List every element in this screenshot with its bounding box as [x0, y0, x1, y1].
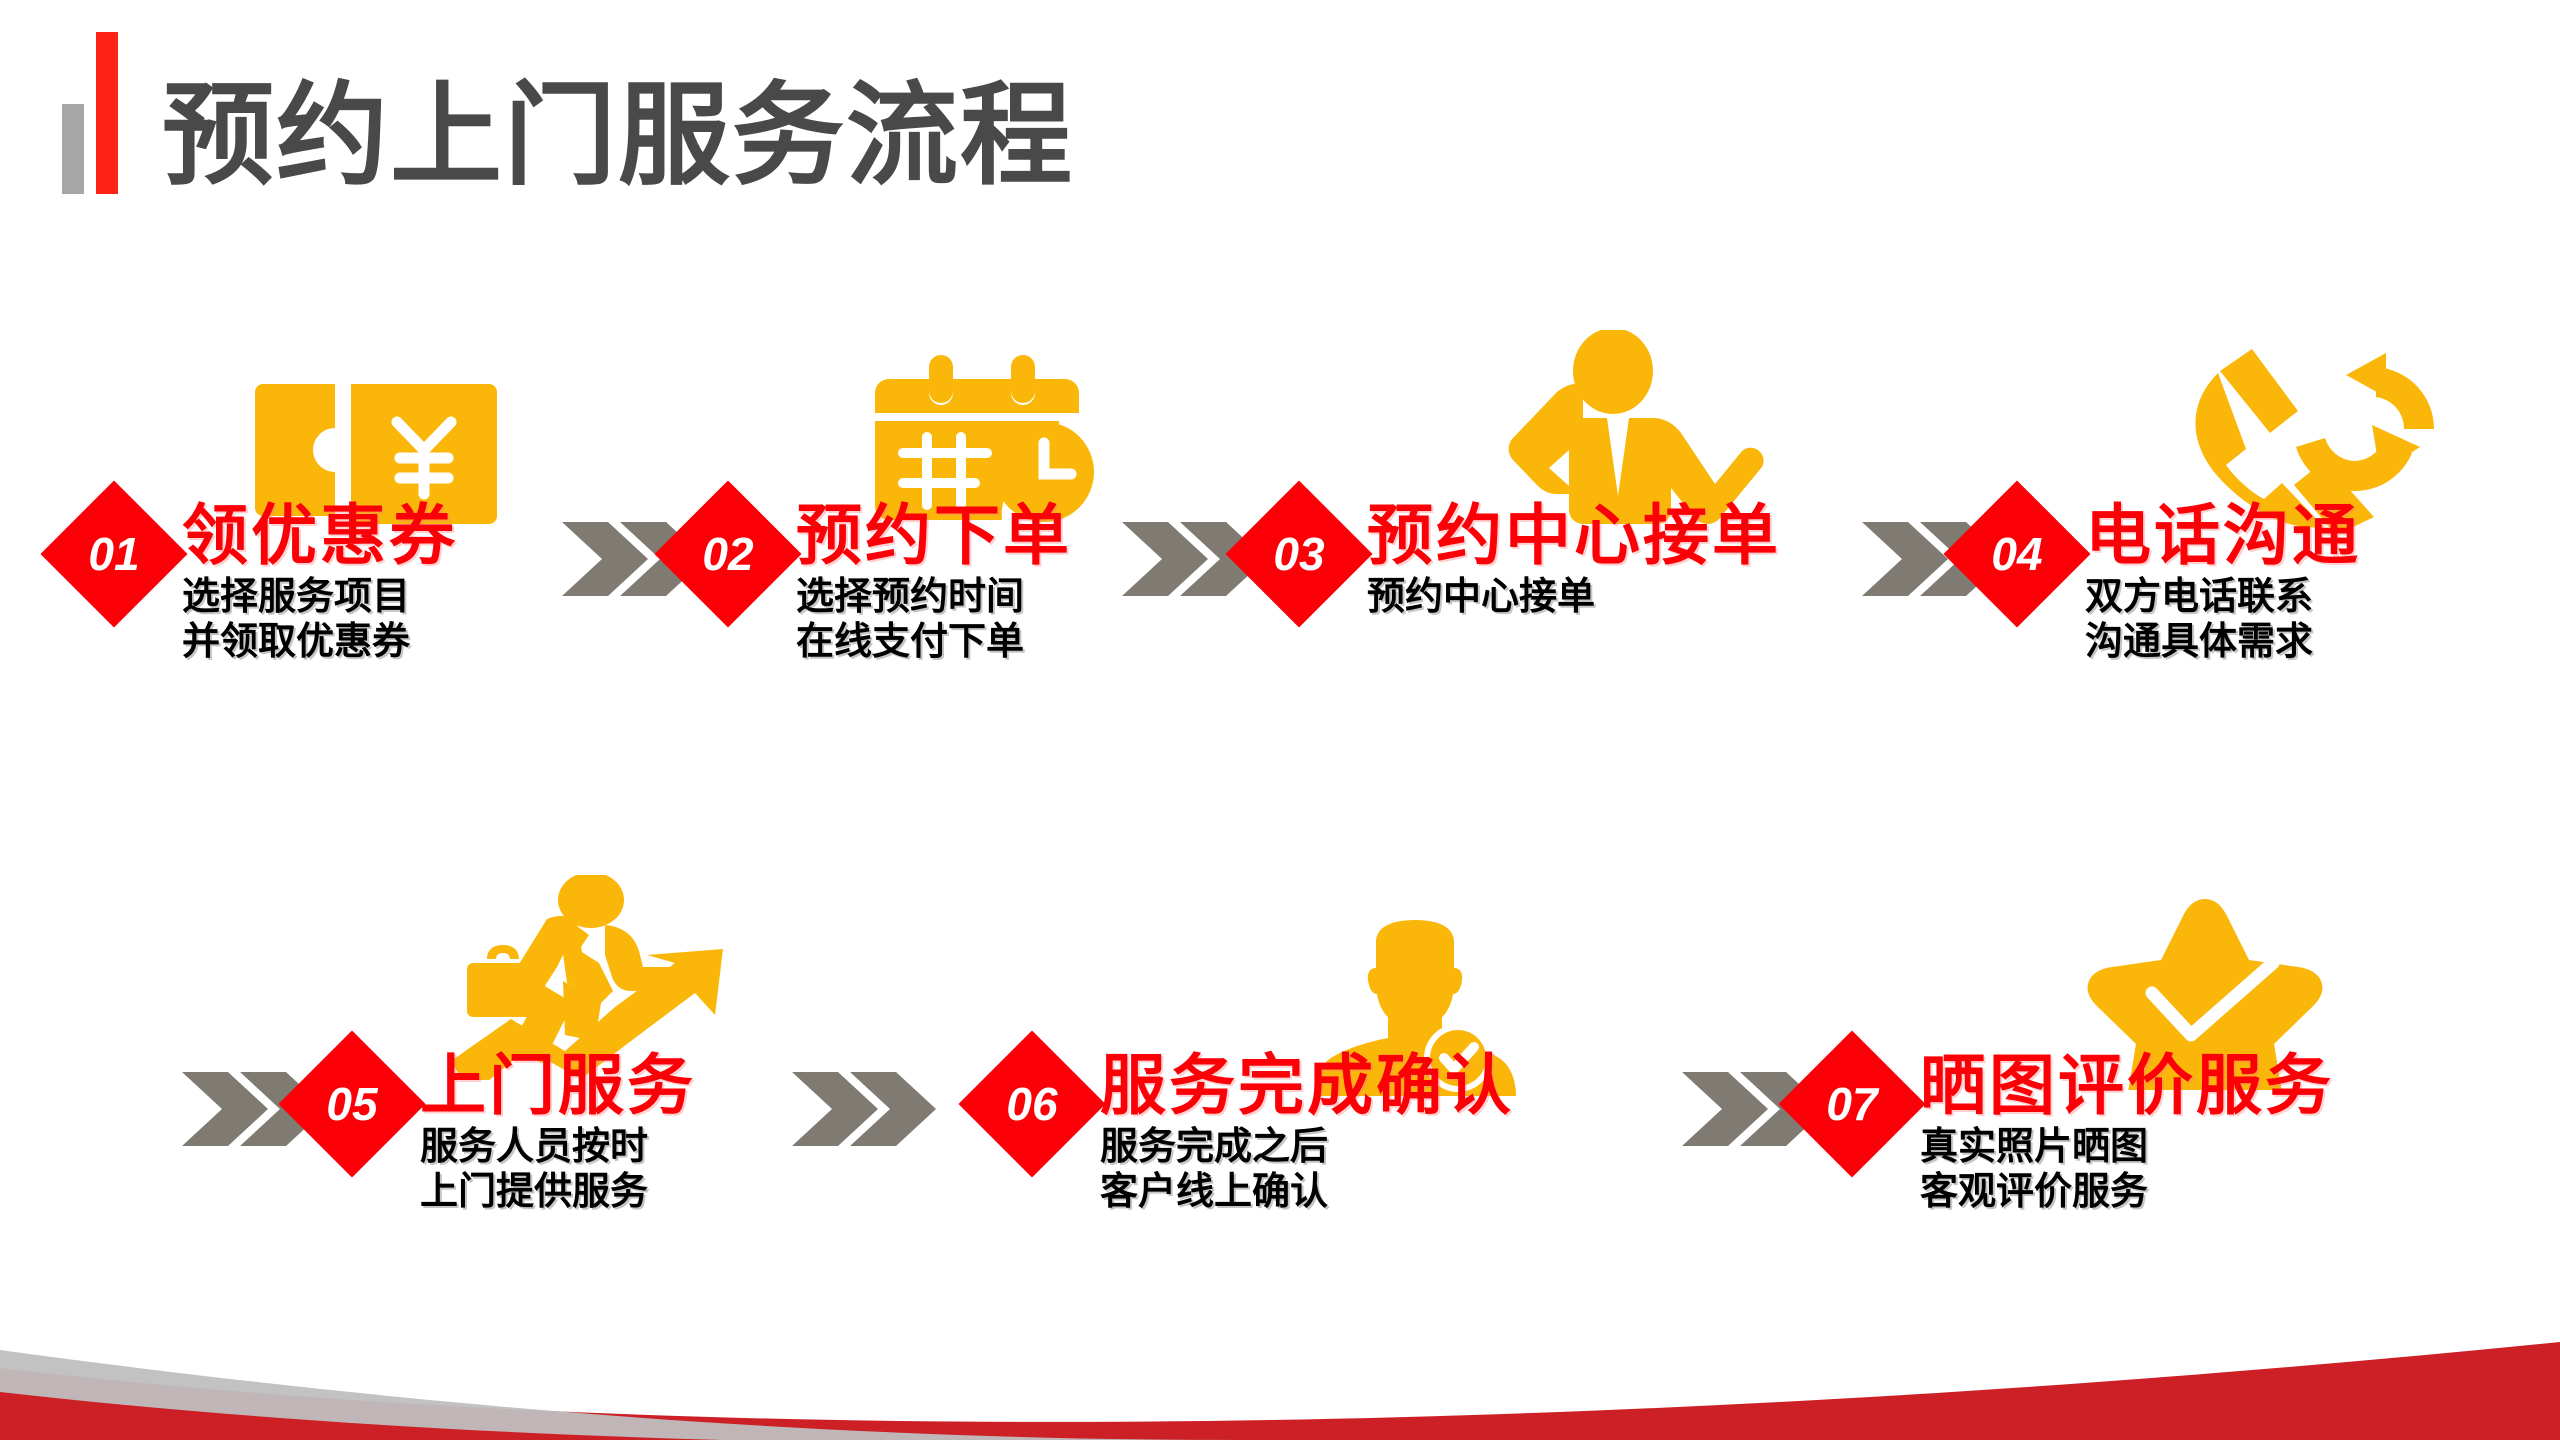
step-2-subtitle-line-1: 选择预约时间 — [796, 575, 1072, 620]
title-accent-bar-grey — [62, 104, 84, 194]
step-6-subtitle-line-2: 客户线上确认 — [1100, 1170, 1514, 1215]
step-6-label: 06 服务完成确认 服务完成之后 客户线上确认 — [980, 1052, 1514, 1215]
step-6-number-badge: 06 — [958, 1030, 1105, 1177]
step-4-number: 04 — [1965, 502, 2069, 606]
step-4-number-badge: 04 — [1943, 480, 2090, 627]
step-1-subtitle-line-1: 选择服务项目 — [182, 575, 458, 620]
step-1-number-badge: 01 — [40, 480, 187, 627]
step-1-subtitle-line-2: 并领取优惠券 — [182, 620, 458, 665]
step-6-subtitle-line-1: 服务完成之后 — [1100, 1125, 1514, 1170]
step-7-subtitle-line-2: 客观评价服务 — [1920, 1170, 2334, 1215]
step-4-subtitle-line-1: 双方电话联系 — [2085, 575, 2361, 620]
step-5-label: 05 上门服务 服务人员按时 上门提供服务 — [300, 1052, 696, 1215]
step-2-subtitle: 选择预约时间 在线支付下单 — [796, 575, 1072, 665]
process-row-top: 01 领优惠券 选择服务项目 并领取优惠券 — [0, 330, 2560, 760]
step-5-subtitle-line-1: 服务人员按时 — [420, 1125, 696, 1170]
step-3-number: 03 — [1247, 502, 1351, 606]
step-3-label: 03 预约中心接单 预约中心接单 — [1247, 502, 1781, 620]
step-4-title: 电话沟通 — [2085, 502, 2361, 569]
step-6-number: 06 — [980, 1052, 1084, 1156]
step-3-subtitle: 预约中心接单 — [1367, 575, 1781, 620]
step-6-title: 服务完成确认 — [1100, 1052, 1514, 1119]
step-5-number-badge: 05 — [278, 1030, 425, 1177]
step-7-number: 07 — [1800, 1052, 1904, 1156]
page-title: 预约上门服务流程 — [162, 80, 1074, 192]
step-5-number: 05 — [300, 1052, 404, 1156]
step-2-subtitle-line-2: 在线支付下单 — [796, 620, 1072, 665]
step-1-number: 01 — [62, 502, 166, 606]
step-5-title: 上门服务 — [420, 1052, 696, 1119]
step-7-label: 07 晒图评价服务 真实照片晒图 客观评价服务 — [1800, 1052, 2334, 1215]
step-1-title: 领优惠券 — [182, 502, 458, 569]
chevron-arrow-5-6 — [790, 1070, 940, 1148]
step-4-subtitle-line-2: 沟通具体需求 — [2085, 620, 2361, 665]
step-1-label: 01 领优惠券 选择服务项目 并领取优惠券 — [62, 502, 458, 665]
slide-canvas: 预约上门服务流程 01 — [0, 0, 2560, 1440]
bottom-wave-decoration — [0, 1250, 2560, 1440]
step-2-number: 02 — [676, 502, 780, 606]
step-2-number-badge: 02 — [654, 480, 801, 627]
process-row-bottom: 05 上门服务 服务人员按时 上门提供服务 — [0, 880, 2560, 1310]
step-4-label: 04 电话沟通 双方电话联系 沟通具体需求 — [1965, 502, 2361, 665]
step-4-subtitle: 双方电话联系 沟通具体需求 — [2085, 575, 2361, 665]
step-7-number-badge: 07 — [1778, 1030, 1925, 1177]
slide-title-block: 预约上门服务流程 — [62, 26, 1074, 206]
step-3-number-badge: 03 — [1225, 480, 1372, 627]
step-1-subtitle: 选择服务项目 并领取优惠券 — [182, 575, 458, 665]
step-5-subtitle-line-2: 上门提供服务 — [420, 1170, 696, 1215]
step-7-title: 晒图评价服务 — [1920, 1052, 2334, 1119]
step-5-subtitle: 服务人员按时 上门提供服务 — [420, 1125, 696, 1215]
step-6-subtitle: 服务完成之后 客户线上确认 — [1100, 1125, 1514, 1215]
step-2-label: 02 预约下单 选择预约时间 在线支付下单 — [676, 502, 1072, 665]
step-7-subtitle: 真实照片晒图 客观评价服务 — [1920, 1125, 2334, 1215]
step-3-title: 预约中心接单 — [1367, 502, 1781, 569]
step-7-subtitle-line-1: 真实照片晒图 — [1920, 1125, 2334, 1170]
step-2-title: 预约下单 — [796, 502, 1072, 569]
step-3-subtitle-line-1: 预约中心接单 — [1367, 575, 1781, 620]
title-accent-bar-red — [96, 32, 118, 194]
